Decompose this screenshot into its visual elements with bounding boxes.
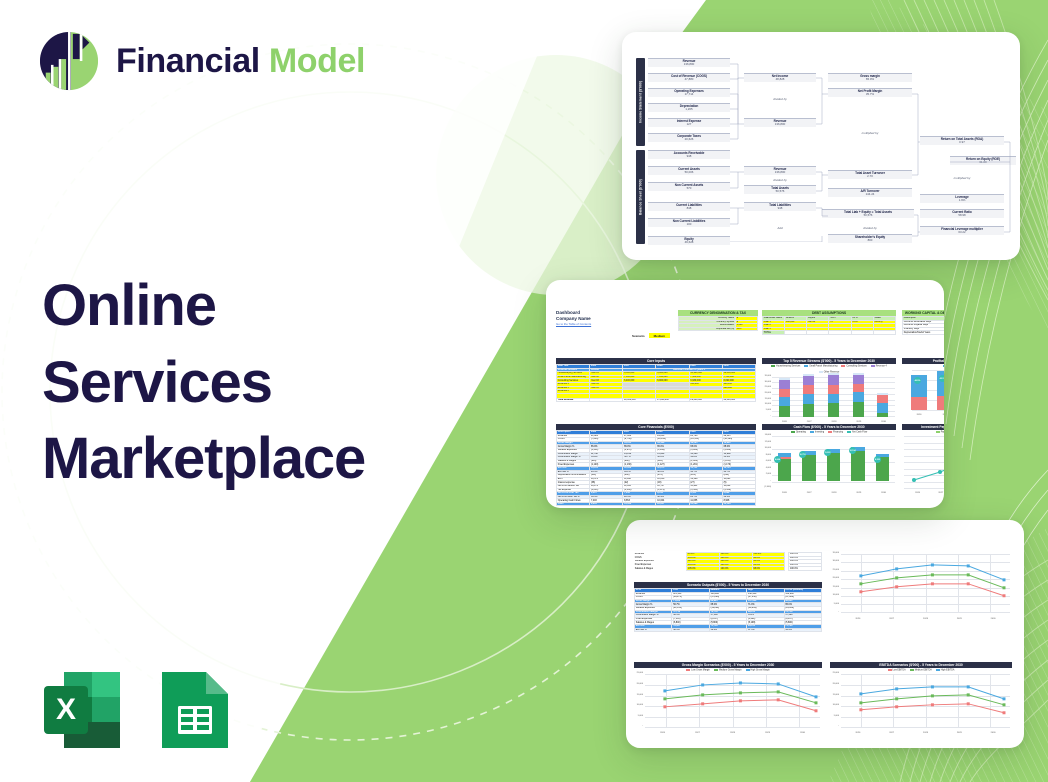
- scenario-assumptions: Revenue80.0%100.0%120.0%100.0% COGS105.0…: [634, 552, 822, 571]
- cash-flow-plot: 14,00012,00010,0008,0006,0004,0002,000-(…: [762, 434, 896, 494]
- node-net-income: Net Income48,828: [744, 73, 816, 82]
- band-balance-sheet: Balance Sheet ($'000): [636, 150, 645, 244]
- dupont-diagram: Income Statement ($'000) Balance Sheet (…: [632, 54, 1012, 242]
- node-roe: Return on Equity (ROE)61.03: [950, 156, 1016, 165]
- node-depreciation: Depreciation1,265: [648, 103, 730, 112]
- node-current-assets: Current Assets50,006: [648, 166, 730, 175]
- page-title: Online Services Marketplace: [42, 268, 365, 498]
- core-inputs-table: Start Year20262027202820292030 Revenue S…: [556, 364, 756, 402]
- operator-multiplied-by-1: multiplied by: [828, 131, 912, 135]
- brand-lockup: Financial Model: [38, 30, 365, 92]
- page-title-line1: Online: [42, 268, 365, 345]
- gross-margin-lines: [645, 674, 820, 728]
- page-title-line3: Marketplace: [42, 421, 365, 498]
- scenario-outputs-table: KPIsLowMediumHighActive (Medium) Revenue…: [634, 588, 822, 632]
- google-sheets-icon: [148, 666, 236, 754]
- node-ar-turnover: A/R Turnover144.24: [828, 188, 912, 197]
- panel-working-capital: WORKING CAPITAL & DEPRECIATION Assumptio…: [902, 310, 944, 335]
- node-non-current-assets: Non Current Assets570: [648, 182, 730, 191]
- revenue-scenarios-lines: [841, 554, 1010, 614]
- node-roa: Return on Total Assets (ROA)0.97: [920, 136, 1004, 145]
- currency-tax-table: Currency Name$ Currency Symbol$ Denomina…: [678, 316, 758, 331]
- poster-canvas: Financial Model Online Services Marketpl…: [0, 0, 1048, 782]
- panel-core-inputs: Core Inputs Start Year202620272028202920…: [556, 358, 756, 402]
- scenario-body: Revenue80.0%100.0%120.0%100.0% COGS105.0…: [626, 520, 1024, 748]
- revenue-scenarios-plot: 35,00030,00025,00020,00015,00010,0005,00…: [830, 552, 1012, 620]
- node-corporate-taxes: Corporate Taxes20,626: [648, 133, 730, 142]
- scenario-assumptions-table: Revenue80.0%100.0%120.0%100.0% COGS105.0…: [634, 552, 822, 571]
- node-shareholders-equity: Shareholder's Equity800: [828, 234, 912, 243]
- panel-working-capital-header: WORKING CAPITAL & DEPRECIATION: [902, 310, 944, 316]
- bar-2030: [877, 393, 888, 417]
- operator-add: Add: [744, 226, 816, 230]
- node-total-liab-equity: Total Liab + Equity = Total Assets50,576: [822, 209, 914, 218]
- scenario-analysis-screenshot[interactable]: Revenue80.0%100.0%120.0%100.0% COGS105.0…: [626, 520, 1024, 748]
- operator-divided-by-1: divided by: [744, 97, 816, 101]
- panel-gross-margin-scenarios-chart: Gross Margin Scenarios ($'000) - 5 Years…: [634, 662, 822, 734]
- toc-link[interactable]: Go to the Table of Contents: [556, 322, 676, 326]
- node-accounts-receivable: Accounts Receivable948: [648, 150, 730, 159]
- dashboard-company-name: Company Name: [556, 316, 676, 322]
- dupont-analysis-screenshot[interactable]: Income Statement ($'000) Balance Sheet (…: [622, 32, 1020, 260]
- node-cogs: Cost of Revenue (COGS)47,880: [648, 73, 730, 82]
- ebitda-scenarios-plot: 25,00020,00015,00010,0005,000- 202620272…: [830, 672, 1012, 734]
- node-interest-expense: Interest Expense127: [648, 118, 730, 127]
- node-net-profit-margin: Net Profit Margin35.7%: [828, 88, 912, 97]
- brand-name-part1: Financial: [116, 42, 269, 80]
- panel-scenario-outputs: Scenario Outputs ($'000) - 5 Years to De…: [634, 582, 822, 632]
- node-revenue-denominator: Revenue136,800: [744, 118, 816, 127]
- panel-debt-assumptions: DEBT ASSUMPTIONS Loan/Grant NameAmountLa…: [762, 310, 896, 335]
- node-current-ratio: Current Ratio58.98: [920, 209, 1004, 218]
- working-capital-table: AssumptionValue Accounts Receivable Days…: [902, 316, 944, 335]
- node-revenue: Revenue136,800: [648, 58, 730, 67]
- operator-divided-by-3: divided by: [828, 226, 912, 230]
- panel-core-financials: Core Financials ($'000) Description20262…: [556, 424, 756, 506]
- scenario-label: Scenario: [632, 334, 645, 338]
- debt-assumptions-table: Loan/Grant NameAmountLayoutTermInt %Grac…: [762, 316, 896, 335]
- node-total-liabilities: Total Liabilities948: [744, 202, 816, 211]
- financial-model-circle-logo: [38, 30, 100, 92]
- bar-2026: [779, 378, 790, 417]
- bar-2027: [803, 374, 814, 417]
- bar-2029: [853, 373, 864, 417]
- panel-revenue-scenarios-chart: 35,00030,00025,00020,00015,00010,0005,00…: [830, 552, 1012, 620]
- payback-line: [906, 436, 944, 486]
- node-total-assets: Total Assets50,576: [744, 185, 816, 194]
- brand-name-part2: Model: [269, 42, 365, 80]
- panel-currency-tax: CURRENCY DENOMINATION & TAX Currency Nam…: [678, 310, 758, 331]
- file-format-icons: X: [38, 666, 236, 754]
- dashboard-header: Dashboard Company Name Go to the Table o…: [556, 310, 676, 338]
- node-equity: Equity49,628: [648, 236, 730, 245]
- node-revenue-ta: Revenue136,800: [744, 166, 816, 175]
- payback-plot: 72,00057,00051,00049,00046,00044,00041,0…: [902, 434, 944, 494]
- band-income-statement: Income Statement ($'000): [636, 58, 645, 146]
- node-total-asset-turnover: Total Asset Turnover2.70: [828, 170, 912, 179]
- node-current-liabilities: Current Liabilities848: [648, 202, 730, 211]
- panel-payback-chart: Investment Payback Chart ($'000) - 5 Yea…: [902, 424, 944, 494]
- node-operating-expenses: Operating Expenses17,714: [648, 88, 730, 97]
- dashboard-screenshot[interactable]: Dashboard Company Name Go to the Table o…: [546, 280, 944, 508]
- panel-revenue-streams-chart: Top 5 Revenue Streams ($'000) - 5 Years …: [762, 358, 896, 423]
- microsoft-excel-icon: X: [38, 666, 126, 754]
- node-leverage: Leverage1.9%: [920, 194, 1004, 203]
- core-inputs-total-label: Total Revenue: [557, 398, 590, 402]
- node-financial-leverage-multiplier: Financial Leverage multiplier63.22: [920, 226, 1004, 235]
- dashboard-body: Dashboard Company Name Go to the Table o…: [546, 280, 944, 508]
- profitability-plot: 46.5% 43.1% 42.0% 43.7% 43.7% 2026202720…: [902, 368, 944, 416]
- gross-margin-scenarios-plot: 25,00020,00015,00010,0005,000- 202620272…: [634, 672, 822, 734]
- node-non-current-liabilities: Non Current Liabilities100: [648, 218, 730, 227]
- brand-name: Financial Model: [116, 42, 365, 81]
- svg-text:X: X: [56, 693, 76, 726]
- ebitda-lines: [841, 674, 1010, 728]
- panel-ebitda-scenarios-chart: EBITDA Scenarios ($'000) - 5 Years to De…: [830, 662, 1012, 734]
- core-financials-table: Description20262027202820292030 Revenue2…: [556, 430, 756, 506]
- bar-2028: [828, 373, 839, 417]
- scenario-selector[interactable]: Medium: [649, 333, 670, 338]
- page-title-line2: Services: [42, 345, 365, 422]
- node-gross-margin: Gross margin65.0%: [828, 73, 912, 82]
- revenue-streams-plot: 35,00030,00025,00020,00015,00010,0005,00…: [762, 375, 896, 423]
- operator-divided-by-2: divided by: [744, 178, 816, 182]
- operator-multiplied-by-2: multiplied by: [920, 176, 1004, 180]
- panel-profitability-chart: Profitability ($'000) - 5 Years to Decem…: [902, 358, 944, 416]
- panel-cash-flow-chart: Cash Flow ($'000) - 5 Years to December …: [762, 424, 896, 494]
